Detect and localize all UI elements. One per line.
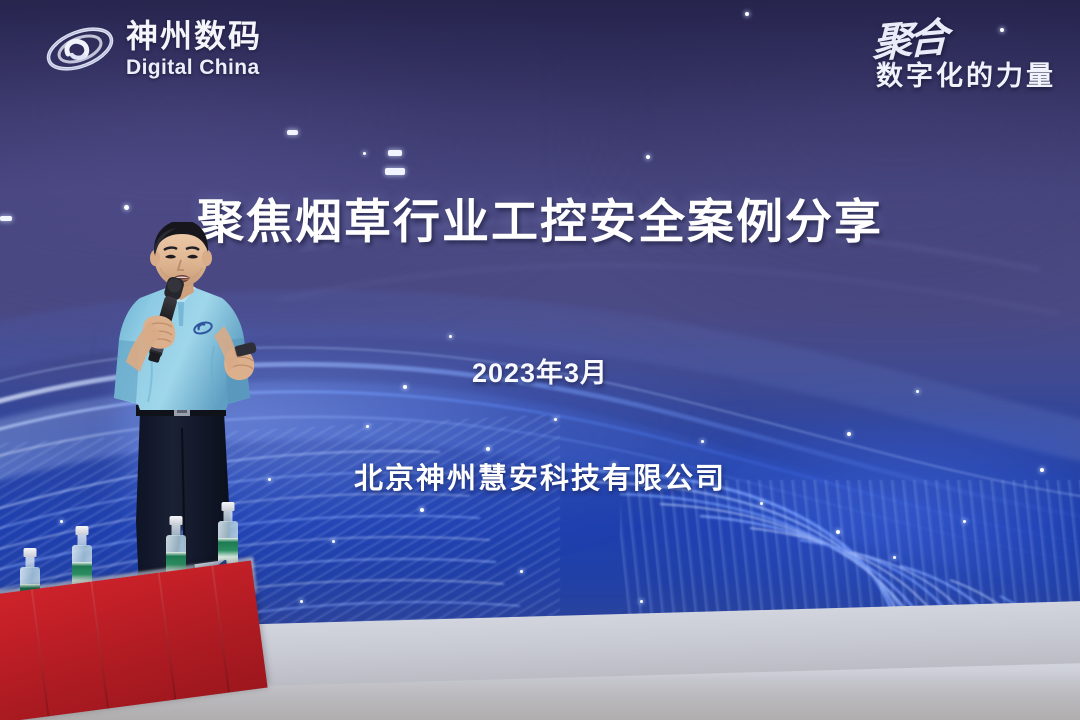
slogan-brush-text: 聚合 (872, 18, 944, 64)
event-slogan-logo: 聚合 数字化的力量 (872, 18, 1056, 93)
cloth-fold (31, 589, 50, 716)
bottle-cap (170, 516, 183, 525)
brand-name-cn: 神州数码 (126, 20, 262, 52)
foreground-head-table (0, 544, 290, 720)
cloth-fold (211, 566, 230, 693)
cloth-fold (158, 573, 177, 700)
brand-name-en: Digital China (126, 57, 262, 78)
bottle-cap (24, 548, 37, 557)
digital-china-swirl-icon (42, 18, 118, 80)
bottle-cap (76, 526, 89, 535)
cloth-fold (90, 581, 109, 708)
bottle-cap (222, 502, 235, 511)
conference-photo: 神州数码 Digital China 聚合 数字化的力量 聚焦烟草行业工控安全案… (0, 0, 1080, 720)
digital-china-logo: 神州数码 Digital China (42, 18, 262, 80)
